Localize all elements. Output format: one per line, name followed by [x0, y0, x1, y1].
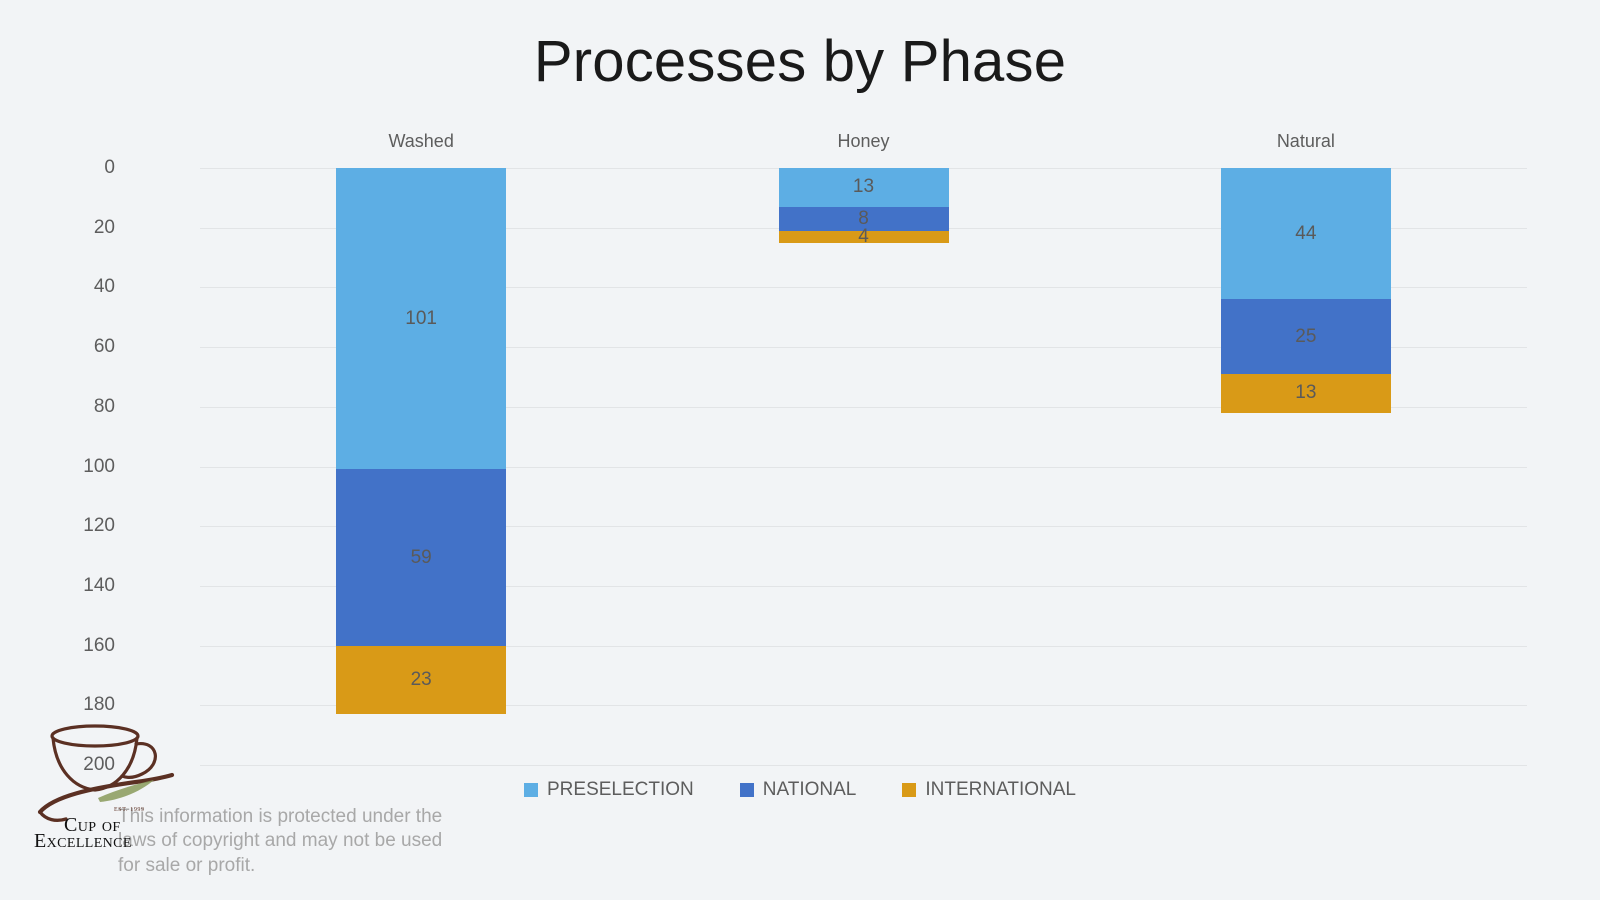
- cup-of-excellence-logo: EST. 1999 Cup of Excellence: [32, 718, 182, 848]
- y-axis-tick-label: 180: [45, 694, 115, 716]
- bar-segment-preselection[interactable]: 13: [779, 168, 949, 207]
- y-axis-tick-label: 60: [45, 336, 115, 358]
- legend-swatch-preselection: [524, 783, 538, 797]
- chart-legend: PRESELECTIONNATIONALINTERNATIONAL: [0, 779, 1600, 801]
- bar-value-label: 59: [411, 547, 432, 569]
- bar-segment-preselection[interactable]: 44: [1221, 168, 1391, 299]
- y-axis-tick-label: 140: [45, 575, 115, 597]
- y-axis-tick-label: 100: [45, 456, 115, 478]
- legend-label: PRESELECTION: [547, 779, 694, 801]
- bar-segment-national[interactable]: 8: [779, 207, 949, 231]
- bar-segment-international[interactable]: 23: [336, 646, 506, 715]
- legend-swatch-national: [740, 783, 754, 797]
- bar-stack-honey[interactable]: 1384: [779, 168, 949, 765]
- bar-value-label: 44: [1295, 223, 1316, 245]
- y-axis-tick-label: 120: [45, 515, 115, 537]
- legend-label: NATIONAL: [763, 779, 857, 801]
- bar-segment-international[interactable]: 4: [779, 231, 949, 243]
- legend-item-international[interactable]: INTERNATIONAL: [902, 779, 1076, 801]
- plot-area: 0204060801001201401601802001015923138444…: [200, 168, 1527, 765]
- legend-item-preselection[interactable]: PRESELECTION: [524, 779, 694, 801]
- bar-segment-international[interactable]: 13: [1221, 374, 1391, 413]
- category-label-washed: Washed: [388, 131, 453, 152]
- bar-value-label: 8: [858, 208, 869, 230]
- category-label-honey: Honey: [837, 131, 889, 152]
- y-axis-tick-label: 20: [45, 217, 115, 239]
- bar-stack-washed[interactable]: 1015923: [336, 168, 506, 765]
- bar-stack-natural[interactable]: 442513: [1221, 168, 1391, 765]
- bar-value-label: 101: [405, 308, 437, 330]
- logo-line2: Excellence: [34, 830, 132, 848]
- category-label-natural: Natural: [1277, 131, 1335, 152]
- bar-value-label: 13: [1295, 382, 1316, 404]
- legend-item-national[interactable]: NATIONAL: [740, 779, 857, 801]
- y-axis-tick-label: 40: [45, 276, 115, 298]
- bar-segment-preselection[interactable]: 101: [336, 168, 506, 469]
- coffee-cup-icon: EST. 1999 Cup of Excellence: [32, 718, 182, 848]
- chart-canvas: 0204060801001201401601802001015923138444…: [0, 0, 1600, 900]
- y-axis-tick-label: 160: [45, 635, 115, 657]
- bar-segment-national[interactable]: 59: [336, 469, 506, 645]
- bar-segment-national[interactable]: 25: [1221, 299, 1391, 374]
- gridline: [200, 765, 1527, 766]
- bar-value-label: 23: [411, 669, 432, 691]
- bar-value-label: 13: [853, 176, 874, 198]
- legend-label: INTERNATIONAL: [925, 779, 1076, 801]
- bar-value-label: 25: [1295, 326, 1316, 348]
- legend-swatch-international: [902, 783, 916, 797]
- y-axis-tick-label: 0: [45, 157, 115, 179]
- y-axis-tick-label: 80: [45, 396, 115, 418]
- logo-established: EST. 1999: [114, 807, 145, 813]
